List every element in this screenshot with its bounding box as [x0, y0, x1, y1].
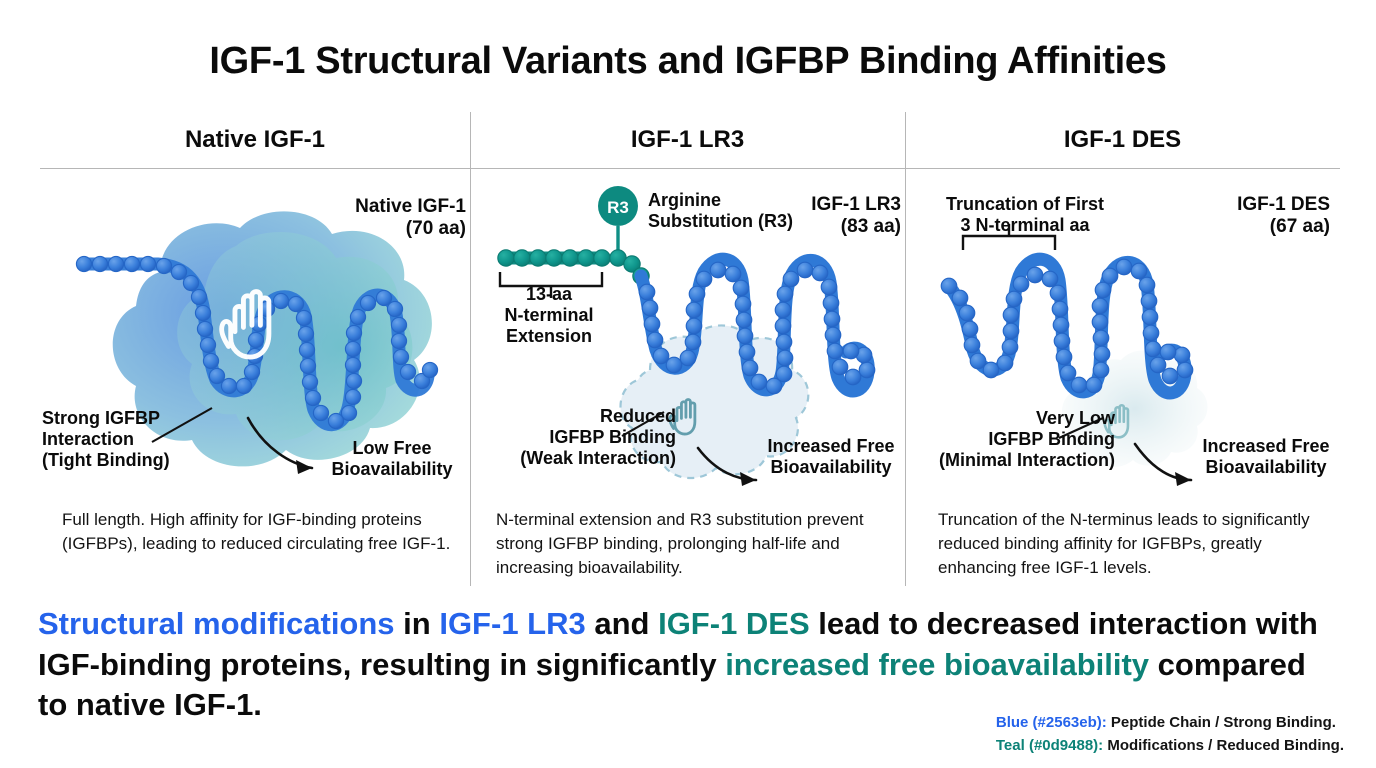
page-title: IGF-1 Structural Variants and IGFBP Bind… — [0, 40, 1376, 83]
lr3-name-label: IGF-1 LR3 (83 aa) — [811, 194, 901, 239]
column-divider-2 — [905, 112, 906, 586]
summary-seg-des: IGF-1 DES — [658, 606, 810, 641]
lr3-substitution-label: Arginine Substitution (R3) — [648, 190, 838, 232]
legend-key-blue: Blue (#2563eb): — [996, 714, 1107, 731]
description-lr3: N-terminal extension and R3 substitution… — [496, 508, 888, 580]
des-binding-label: Very Low IGFBP Binding (Minimal Interact… — [907, 408, 1115, 472]
description-native: Full length. High affinity for IGF-bindi… — [62, 508, 452, 556]
peptide-chain-des — [941, 259, 1193, 393]
legend-row-teal: Teal (#0d9488): Modifications / Reduced … — [996, 735, 1344, 758]
des-outcome-label: Increased Free Bioavailability — [1191, 436, 1341, 478]
r3-badge-label: R3 — [607, 198, 629, 217]
native-binding-label: Strong IGFBP Interaction (Tight Binding) — [42, 408, 212, 472]
lr3-binding-label: Reduced IGFBP Binding (Weak Interaction) — [472, 406, 676, 470]
column-header-lr3: IGF-1 LR3 — [470, 126, 905, 154]
legend-value-teal: Modifications / Reduced Binding. — [1103, 737, 1344, 754]
diagram-canvas: IGF-1 Structural Variants and IGFBP Bind… — [0, 0, 1376, 768]
panel-native: Native IGF-1 (70 aa) Strong IGFBP Intera… — [40, 180, 470, 510]
native-outcome-label: Low Free Bioavailability — [312, 438, 472, 480]
panel-lr3: R3 — [472, 180, 905, 510]
panel-des: Truncation of First 3 N-terminal aa IGF-… — [907, 180, 1340, 510]
n-terminal-extension-beads — [498, 250, 610, 266]
column-header-native: Native IGF-1 — [40, 126, 470, 154]
summary-seg-and: and — [586, 606, 658, 641]
lr3-extension-label: 13-aa N-terminal Extension — [474, 284, 624, 348]
header-divider — [40, 168, 1340, 169]
r3-substitution-marker: R3 — [598, 186, 638, 256]
native-name-label: Native IGF-1 (70 aa) — [355, 196, 466, 241]
summary-seg-lr3: IGF-1 LR3 — [439, 606, 585, 641]
summary-seg-bioavailability: increased free bioavailability — [725, 647, 1149, 682]
description-des: Truncation of the N-terminus leads to si… — [938, 508, 1338, 580]
legend-key-teal: Teal (#0d9488): — [996, 737, 1103, 754]
des-name-label: IGF-1 DES (67 aa) — [1237, 194, 1330, 239]
summary-seg-in: in — [395, 606, 440, 641]
legend-value-blue: Peptide Chain / Strong Binding. — [1107, 714, 1336, 731]
column-header-des: IGF-1 DES — [905, 126, 1340, 154]
summary-seg-structural: Structural modifications — [38, 606, 395, 641]
column-divider-1 — [470, 112, 471, 586]
legend-row-blue: Blue (#2563eb): Peptide Chain / Strong B… — [996, 712, 1344, 735]
summary-statement: Structural modifications in IGF-1 LR3 an… — [38, 604, 1328, 726]
des-truncation-label: Truncation of First 3 N-terminal aa — [925, 194, 1125, 236]
lr3-outcome-label: Increased Free Bioavailability — [754, 436, 908, 478]
color-legend: Blue (#2563eb): Peptide Chain / Strong B… — [996, 712, 1344, 757]
